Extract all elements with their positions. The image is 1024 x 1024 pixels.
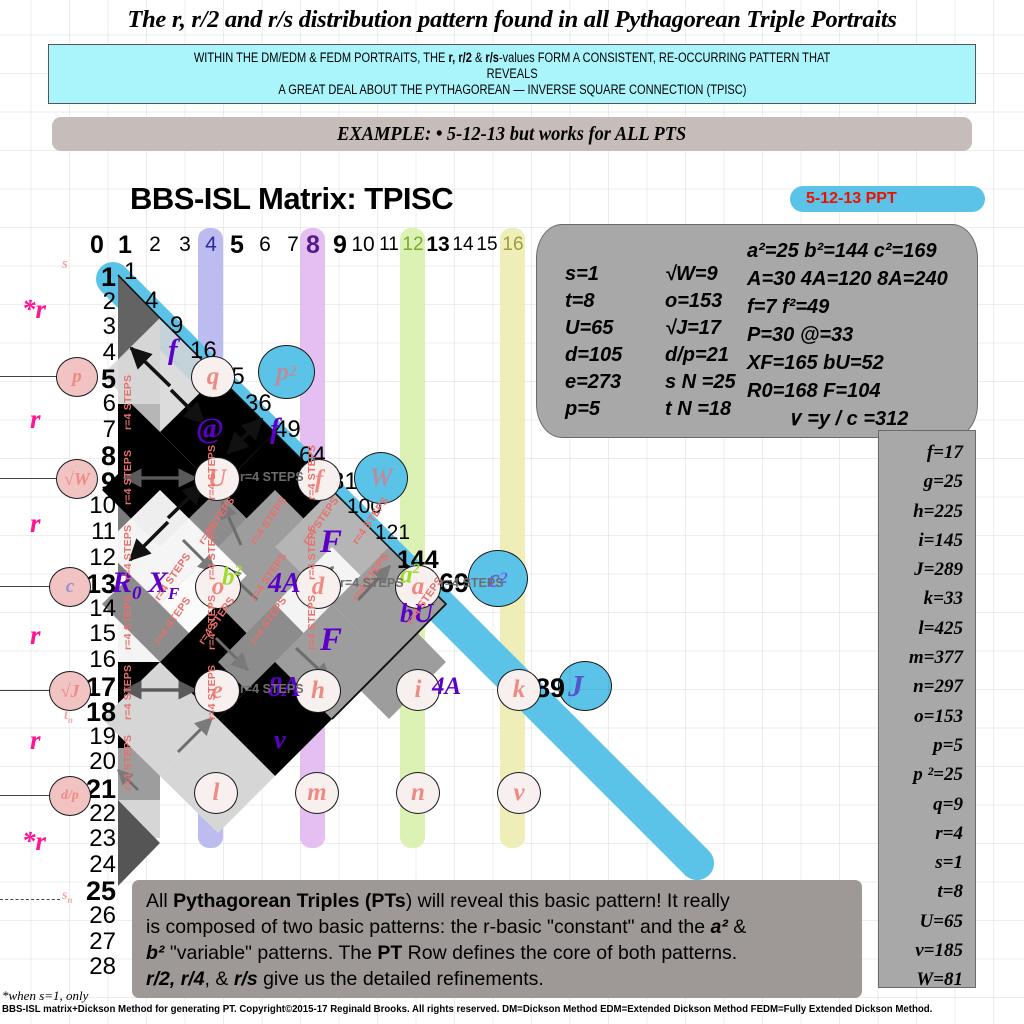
- right-value-11: p ²=25: [879, 760, 975, 789]
- column-header-0[interactable]: 0: [82, 230, 112, 260]
- data-U: U=65: [565, 315, 622, 342]
- right-value-0: f=17: [879, 438, 975, 467]
- note-box: All Pythagorean Triples (PTs) will revea…: [132, 880, 862, 998]
- right-value-6: l=425: [879, 614, 975, 643]
- label-f-lower: f: [270, 413, 280, 446]
- row-number-23[interactable]: 23: [82, 825, 116, 853]
- steps-tick-d3: r=4 STEPS: [248, 495, 289, 547]
- label-v-small: v: [274, 725, 286, 755]
- right-value-16: U=65: [879, 907, 975, 936]
- label-F-lower: F: [320, 622, 342, 659]
- subtitle-line-2: REVEALS: [486, 66, 537, 82]
- data-f: f=7 f²=49: [747, 293, 948, 321]
- right-value-13: r=4: [879, 819, 975, 848]
- column-header-2[interactable]: 2: [140, 230, 170, 260]
- square-121: 121: [375, 521, 410, 545]
- data-d-over-p: d/p=21: [665, 342, 736, 369]
- row-number-19[interactable]: 19: [82, 723, 116, 751]
- data-t: t=8: [565, 288, 622, 315]
- column-header-16[interactable]: 16: [498, 230, 528, 260]
- steps-tick-h1: r=4 STEPS: [240, 682, 304, 696]
- data-o: o=153: [665, 288, 736, 315]
- subtitle-line-3: A GREAT DEAL ABOUT THE PYTHAGOREAN — INV…: [278, 82, 746, 98]
- node-q[interactable]: q: [191, 356, 235, 398]
- row-number-2[interactable]: 2: [82, 288, 116, 316]
- right-value-8: n=297: [879, 672, 975, 701]
- data-s: s=1: [565, 261, 622, 288]
- right-value-18: W=81: [879, 965, 975, 994]
- square-1: 1: [124, 258, 137, 286]
- column-header-1[interactable]: 1: [110, 230, 140, 260]
- column-header-6[interactable]: 6: [250, 230, 280, 260]
- row-number-15[interactable]: 15: [82, 620, 116, 648]
- row-number-26[interactable]: 26: [82, 902, 116, 930]
- square-36: 36: [245, 390, 272, 418]
- data-areas: A=30 4A=120 8A=240: [747, 265, 948, 293]
- data-v-y-c: ∨ =y / c =312: [747, 405, 948, 433]
- node-d[interactable]: d: [295, 565, 341, 609]
- right-value-3: i=145: [879, 526, 975, 555]
- column-header-5[interactable]: 5: [222, 230, 252, 260]
- steps-tick-h3: r=4 STEPS: [440, 576, 504, 590]
- row-number-28[interactable]: 28: [82, 953, 116, 981]
- ppt-badge: 5-12-13 PPT: [790, 186, 985, 212]
- right-values-panel: f=17g=25h=225i=145J=289k=33l=425m=377n=2…: [878, 430, 976, 988]
- steps-tick-v2: r=4 STEPS: [122, 525, 134, 580]
- row-number-14[interactable]: 14: [82, 595, 116, 623]
- note-line-1: All Pythagorean Triples (PTs) will revea…: [146, 888, 848, 914]
- data-d: d=105: [565, 342, 622, 369]
- right-value-4: J=289: [879, 555, 975, 584]
- data-P-at: P=30 @=33: [747, 321, 948, 349]
- steps-tick-d5: r=4 STEPS: [248, 595, 289, 647]
- steps-tick-h0: r=4 STEPS: [240, 470, 304, 484]
- label-F-upper: F: [320, 524, 342, 561]
- right-value-14: s=1: [879, 848, 975, 877]
- node-f[interactable]: f: [297, 459, 341, 501]
- s-marker: s: [62, 256, 68, 273]
- data-panel-col1: s=1 t=8 U=65 d=105 e=273 p=5: [565, 261, 622, 423]
- right-value-7: m=377: [879, 643, 975, 672]
- tn-marker: tn: [64, 708, 73, 725]
- steps-tick-v10: r=4 STEPS: [306, 445, 318, 500]
- lead-line-dp: [0, 795, 52, 796]
- row-number-24[interactable]: 24: [82, 851, 116, 879]
- right-value-2: h=225: [879, 497, 975, 526]
- right-value-10: p=5: [879, 731, 975, 760]
- steps-tick-v9: r=4 STEPS: [206, 665, 218, 720]
- r-label-1: *r: [22, 294, 46, 325]
- data-R0-F: R0=168 F=104: [747, 377, 948, 405]
- column-header-8[interactable]: 8: [298, 230, 328, 260]
- example-text: EXAMPLE: • 5-12-13 but works for ALL PTS: [337, 123, 686, 146]
- bubble-sqrt-w[interactable]: √W: [56, 459, 98, 499]
- data-XF-bU: XF=165 bU=52: [747, 349, 948, 377]
- steps-tick-v12: r=4 STEPS: [306, 595, 318, 650]
- label-f-upper: f: [168, 334, 178, 367]
- node-J-circle[interactable]: [558, 661, 612, 711]
- data-squares: a²=25 b²=144 c²=169: [747, 237, 948, 265]
- steps-tick-v3: r=4 STEPS: [122, 595, 134, 650]
- right-values-list: f=17g=25h=225i=145J=289k=33l=425m=377n=2…: [879, 431, 975, 995]
- row-number-7[interactable]: 7: [82, 416, 116, 444]
- steps-tick-v0: r=4 STEPS: [122, 375, 134, 430]
- data-sN: s N =25: [665, 369, 736, 396]
- row-number-10[interactable]: 10: [82, 492, 116, 520]
- lead-line-c: [0, 586, 52, 587]
- label-at-sign: @: [196, 412, 224, 446]
- node-n[interactable]: n: [396, 772, 440, 814]
- node-v[interactable]: v: [497, 772, 541, 814]
- steps-tick-v4: r=4 STEPS: [122, 665, 134, 720]
- data-sqrtJ: √J=17: [665, 315, 736, 342]
- data-panel-col3: a²=25 b²=144 c²=169 A=30 4A=120 8A=240 f…: [747, 237, 948, 433]
- node-l[interactable]: l: [194, 772, 238, 814]
- column-band-16: [500, 228, 525, 848]
- right-value-1: g=25: [879, 467, 975, 496]
- r-label-5: r: [30, 725, 41, 756]
- sn-marker: sn: [62, 888, 72, 905]
- row-number-3[interactable]: 3: [82, 313, 116, 341]
- footer-copyright: BBS-ISL matrix+Dickson Method for genera…: [2, 1003, 940, 1015]
- data-p: p=5: [565, 396, 622, 423]
- right-value-9: o=153: [879, 702, 975, 731]
- label-J: J: [568, 668, 584, 704]
- lead-line-w: [0, 478, 60, 479]
- right-value-5: k=33: [879, 584, 975, 613]
- note-line-3: b² "variable" patterns. The PT Row defin…: [146, 940, 848, 966]
- row-number-16[interactable]: 16: [82, 646, 116, 674]
- node-k[interactable]: k: [497, 669, 541, 711]
- r-label-6: *r: [22, 826, 46, 857]
- row-number-27[interactable]: 27: [82, 928, 116, 956]
- r-label-4: r: [30, 620, 41, 651]
- r-label-3: r: [30, 508, 41, 539]
- example-banner: EXAMPLE: • 5-12-13 but works for ALL PTS: [52, 117, 972, 151]
- note-line-4: r/2, r/4, & r/s give us the detailed ref…: [146, 966, 848, 992]
- lead-line-j: [0, 690, 52, 691]
- bubble-d-over-p[interactable]: d/p: [49, 776, 91, 816]
- steps-tick-h2: r=4 STEPS: [340, 576, 404, 590]
- data-tN: t N =18: [665, 396, 736, 423]
- ppt-badge-label: 5-12-13 PPT: [806, 190, 897, 208]
- row-number-20[interactable]: 20: [82, 748, 116, 776]
- bubble-p[interactable]: p: [56, 357, 98, 397]
- right-value-12: q=9: [879, 790, 975, 819]
- data-e: e=273: [565, 369, 622, 396]
- matrix-title: BBS-ISL Matrix: TPISC: [130, 181, 453, 217]
- note-line-2: is composed of two basic patterns: the r…: [146, 914, 848, 940]
- node-ob-superscript: b2: [222, 563, 242, 591]
- right-value-17: v=185: [879, 936, 975, 965]
- data-sqrtW: √W=9: [665, 261, 736, 288]
- steps-tick-v5: r=4 STEPS: [122, 735, 134, 790]
- bubble-sqrt-j[interactable]: √J: [49, 671, 91, 711]
- steps-tick-v1: r=4 STEPS: [122, 450, 134, 505]
- label-4Ai: 4A: [432, 673, 461, 701]
- lead-line-sn: [0, 899, 60, 900]
- page-title: The r, r/2 and r/s distribution pattern …: [0, 6, 1024, 34]
- subtitle-banner: WITHIN THE DM/EDM & FEDM PORTRAITS, THE …: [48, 44, 976, 104]
- subtitle-line-1: WITHIN THE DM/EDM & FEDM PORTRAITS, THE …: [194, 50, 830, 66]
- bubble-c[interactable]: c: [49, 567, 91, 607]
- steps-tick-v6: r=4 STEPS: [206, 445, 218, 500]
- data-panel: s=1 t=8 U=65 d=105 e=273 p=5 √W=9 o=153 …: [536, 224, 978, 438]
- right-value-15: t=8: [879, 877, 975, 906]
- node-m[interactable]: m: [295, 772, 339, 814]
- square-4: 4: [145, 287, 158, 315]
- node-p-squared[interactable]: p2: [258, 345, 315, 399]
- data-panel-col2: √W=9 o=153 √J=17 d/p=21 s N =25 t N =18: [665, 261, 736, 423]
- row-number-12[interactable]: 12: [82, 544, 116, 572]
- when-note: *when s=1, only: [2, 988, 88, 1004]
- lead-line-p: [0, 376, 60, 377]
- r-label-2: r: [30, 404, 41, 435]
- row-number-11[interactable]: 11: [82, 518, 116, 546]
